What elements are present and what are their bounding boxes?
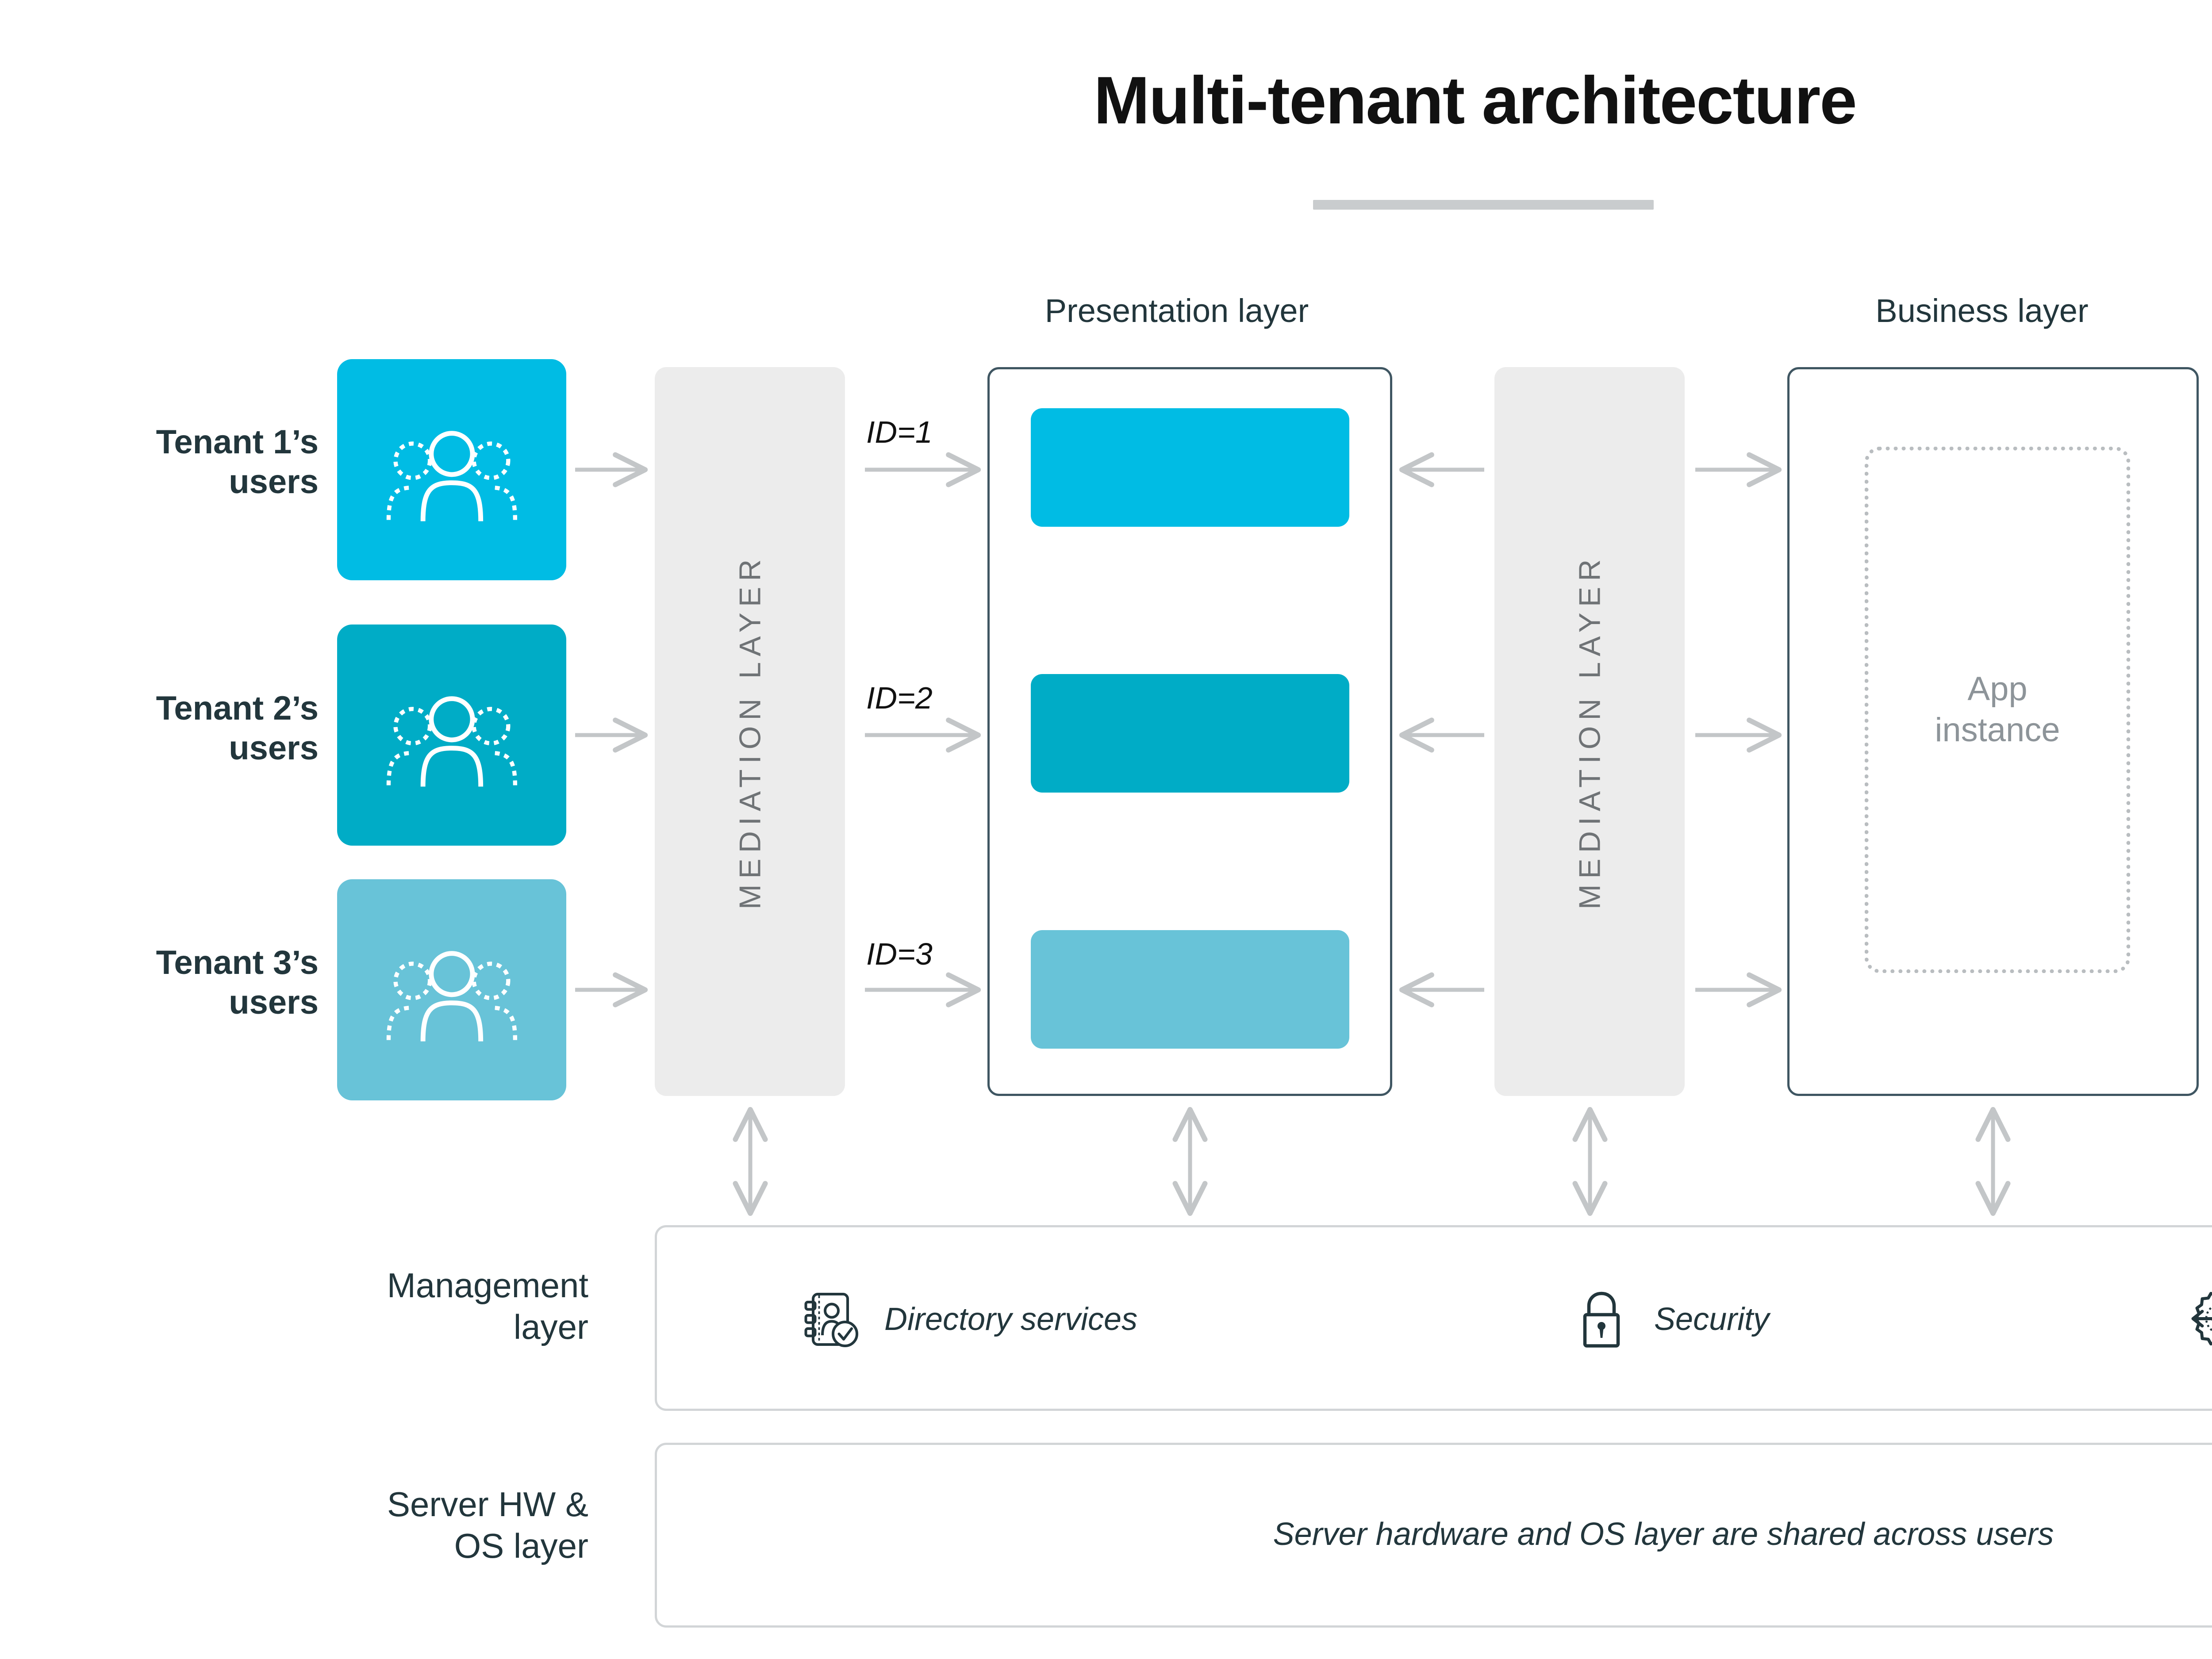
management-item-security[interactable]: Security bbox=[1568, 1286, 1769, 1352]
caption-presentation-layer: Presentation layer bbox=[1000, 292, 1354, 330]
users-icon bbox=[383, 923, 521, 1056]
presentation-tile-tenant-3[interactable] bbox=[1031, 930, 1349, 1049]
presentation-tile-tenant-2[interactable] bbox=[1031, 674, 1349, 793]
server-layer-label-line2: OS layer bbox=[146, 1525, 588, 1567]
users-icon bbox=[383, 403, 521, 536]
tenant-2-label-line2: users bbox=[35, 728, 319, 768]
tenant-2-label: Tenant 2’s users bbox=[35, 689, 319, 768]
tenant-1-label-line2: users bbox=[35, 462, 319, 502]
gear-check-icon bbox=[2188, 1286, 2212, 1352]
id-label-1: ID=1 bbox=[866, 414, 933, 450]
tenant-3-users-card[interactable] bbox=[337, 879, 566, 1100]
id-label-2: ID=2 bbox=[866, 680, 933, 716]
app-instance-line2: instance bbox=[1935, 711, 2060, 749]
app-instance-line1: App bbox=[1967, 670, 2027, 708]
page-title: Multi-tenant architecture bbox=[0, 62, 2212, 139]
mediation-layer-left-label: MEDIATION LAYER bbox=[733, 554, 767, 910]
id-label-3: ID=3 bbox=[866, 936, 933, 972]
lock-icon bbox=[1568, 1286, 1635, 1352]
app-instance-container: App instance bbox=[1865, 447, 2130, 973]
directory-services-icon bbox=[799, 1286, 865, 1352]
tenant-3-label-line2: users bbox=[35, 983, 319, 1023]
management-item-security-label: Security bbox=[1654, 1301, 1769, 1337]
tenant-3-label-line1: Tenant 3’s bbox=[35, 943, 319, 983]
management-layer-label-line2: layer bbox=[146, 1307, 588, 1348]
tenant-2-users-card[interactable] bbox=[337, 625, 566, 846]
mediation-layer-right-label: MEDIATION LAYER bbox=[1572, 554, 1607, 910]
tenant-1-label: Tenant 1’s users bbox=[35, 422, 319, 502]
server-layer-label: Server HW & OS layer bbox=[146, 1484, 588, 1567]
management-layer-label: Management layer bbox=[146, 1265, 588, 1348]
users-icon bbox=[383, 669, 521, 801]
presentation-tile-tenant-1[interactable] bbox=[1031, 408, 1349, 527]
mediation-layer-right[interactable]: MEDIATION LAYER bbox=[1494, 367, 1685, 1096]
server-layer-text: Server hardware and OS layer are shared … bbox=[655, 1516, 2212, 1552]
app-instance-label: App instance bbox=[1935, 669, 2060, 751]
tenant-1-users-card[interactable] bbox=[337, 359, 566, 580]
mediation-layer-left[interactable]: MEDIATION LAYER bbox=[655, 367, 845, 1096]
tenant-3-label: Tenant 3’s users bbox=[35, 943, 319, 1022]
title-divider bbox=[1313, 200, 1654, 210]
server-layer-label-line1: Server HW & bbox=[146, 1484, 588, 1525]
tenant-1-label-line1: Tenant 1’s bbox=[35, 422, 319, 462]
diagram-canvas: Multi-tenant architecture Presentation l… bbox=[0, 0, 2212, 1659]
tenant-2-label-line1: Tenant 2’s bbox=[35, 689, 319, 728]
management-item-directory-services[interactable]: Directory services bbox=[799, 1286, 1137, 1352]
management-item-directory-services-label: Directory services bbox=[884, 1301, 1137, 1337]
management-item-provisioning[interactable]: Provisioning bbox=[2188, 1286, 2212, 1352]
management-layer-label-line1: Management bbox=[146, 1265, 588, 1307]
caption-business-layer: Business layer bbox=[1805, 292, 2159, 330]
